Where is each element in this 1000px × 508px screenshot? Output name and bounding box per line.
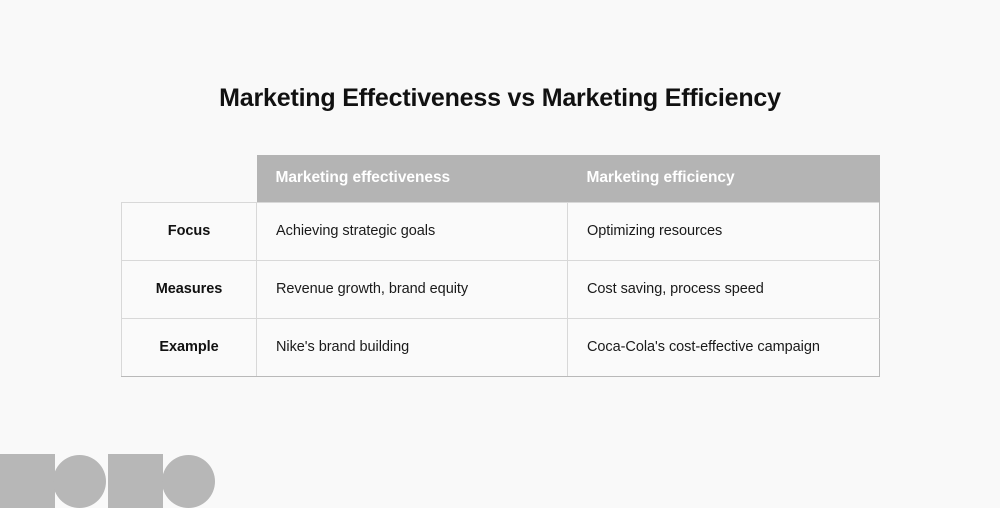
cell-focus-efficiency: Optimizing resources <box>568 202 880 260</box>
page-title: Marketing Effectiveness vs Marketing Eff… <box>0 83 1000 114</box>
cell-focus-effectiveness: Achieving strategic goals <box>257 202 568 260</box>
decorative-square-icon <box>0 454 55 508</box>
row-label-example: Example <box>122 318 257 376</box>
table-body: Focus Achieving strategic goals Optimizi… <box>122 202 880 376</box>
row-label-focus: Focus <box>122 202 257 260</box>
decorative-shapes <box>0 446 220 508</box>
comparison-table: Marketing effectiveness Marketing effici… <box>121 155 880 377</box>
table-row: Focus Achieving strategic goals Optimizi… <box>122 202 880 260</box>
cell-example-effectiveness: Nike's brand building <box>257 318 568 376</box>
table-row: Example Nike's brand building Coca-Cola'… <box>122 318 880 376</box>
decorative-circle-icon <box>53 455 106 508</box>
decorative-circle-icon <box>162 455 215 508</box>
table-row: Measures Revenue growth, brand equity Co… <box>122 260 880 318</box>
table-header: Marketing effectiveness Marketing effici… <box>122 155 880 202</box>
table-corner-cell <box>122 155 257 202</box>
decorative-square-icon <box>108 454 163 508</box>
table-header-row: Marketing effectiveness Marketing effici… <box>122 155 880 202</box>
comparison-table-container: Marketing effectiveness Marketing effici… <box>121 155 879 376</box>
cell-example-efficiency: Coca-Cola's cost-effective campaign <box>568 318 880 376</box>
row-label-measures: Measures <box>122 260 257 318</box>
column-header-marketing-efficiency: Marketing efficiency <box>568 155 880 202</box>
column-header-marketing-effectiveness: Marketing effectiveness <box>257 155 568 202</box>
cell-measures-efficiency: Cost saving, process speed <box>568 260 880 318</box>
slide-canvas: Marketing Effectiveness vs Marketing Eff… <box>0 0 1000 508</box>
cell-measures-effectiveness: Revenue growth, brand equity <box>257 260 568 318</box>
